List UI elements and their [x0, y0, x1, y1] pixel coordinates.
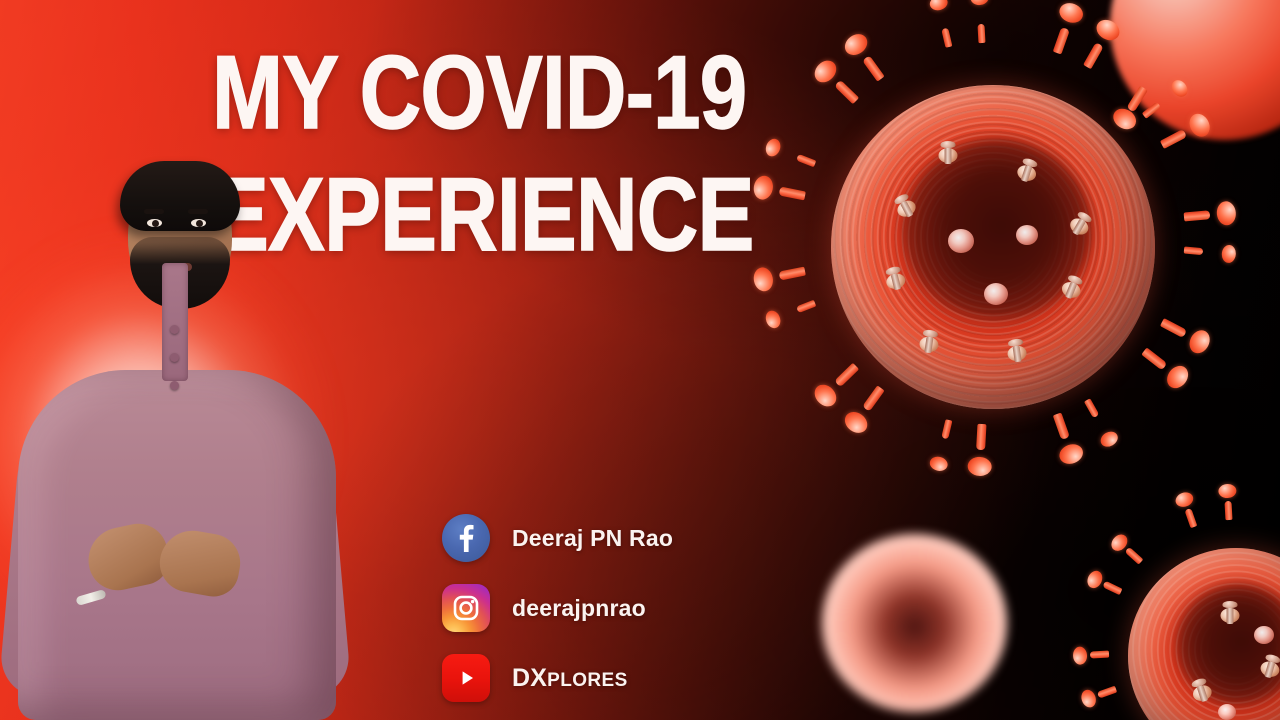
presenter-shirt-button	[170, 325, 179, 334]
social-row-facebook[interactable]: Deeraj PN Rao	[442, 514, 673, 562]
presenter-eyebrow-right	[188, 209, 208, 214]
youtube-label: DXPLORES	[512, 664, 628, 693]
social-row-youtube[interactable]: DXPLORES	[442, 654, 673, 702]
youtube-label-big: DX	[512, 664, 547, 692]
social-row-instagram[interactable]: deerajpnrao	[442, 584, 673, 632]
presenter-pupil-right	[196, 220, 203, 227]
presenter-shirt-button	[170, 353, 179, 362]
facebook-icon[interactable]	[442, 514, 490, 562]
instagram-label: deerajpnrao	[512, 595, 646, 622]
youtube-label-small: PLORES	[547, 670, 628, 691]
presenter-pupil-left	[152, 220, 159, 227]
presenter-shirt-placket	[162, 263, 188, 381]
presenter-eyebrow-left	[144, 209, 164, 214]
presenter-hair	[120, 161, 240, 231]
facebook-label: Deeraj PN Rao	[512, 525, 673, 552]
presenter-photo	[10, 175, 340, 720]
youtube-icon[interactable]	[442, 654, 490, 702]
social-links: Deeraj PN Rao deerajpnrao DXPLORES	[442, 514, 673, 702]
instagram-icon[interactable]	[442, 584, 490, 632]
headline-line-1: MY COVID-19	[212, 44, 671, 144]
thumbnail-canvas: MY COVID-19 EXPERIENCE	[0, 0, 1280, 720]
presenter-shirt-button	[170, 381, 179, 390]
